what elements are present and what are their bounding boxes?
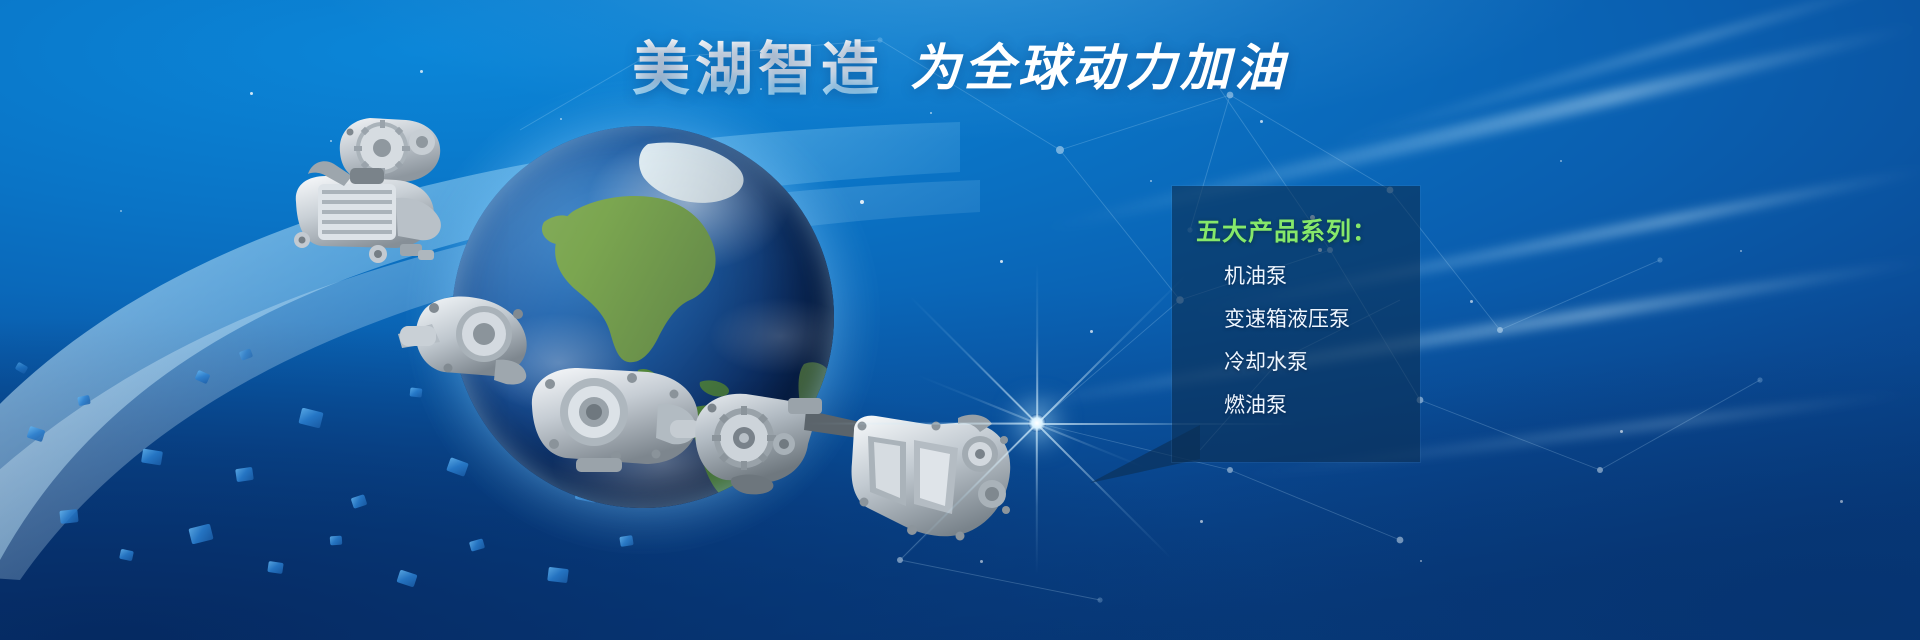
promo-banner: 美湖智造为全球动力加油 五大产品系列： 机油泵 变速箱液压泵 冷却水泵 燃油泵 — [0, 0, 1920, 640]
list-item[interactable]: 机油泵 — [1224, 266, 1420, 287]
flare-core — [1028, 414, 1046, 432]
product-series-panel: 五大产品系列： 机油泵 变速箱液压泵 冷却水泵 燃油泵 — [1172, 186, 1420, 462]
oil-pump-housing-center — [520, 360, 708, 476]
product-series-list: 机油泵 变速箱液压泵 冷却水泵 燃油泵 — [1172, 266, 1420, 416]
timing-cover-casting — [840, 410, 1020, 546]
water-pump-assembly — [398, 290, 538, 386]
list-item[interactable]: 冷却水泵 — [1224, 352, 1420, 373]
list-item[interactable]: 燃油泵 — [1224, 395, 1420, 416]
list-item[interactable]: 变速箱液压泵 — [1224, 309, 1420, 330]
panel-title: 五大产品系列： — [1172, 212, 1420, 248]
transmission-hydraulic-pump — [278, 158, 450, 274]
